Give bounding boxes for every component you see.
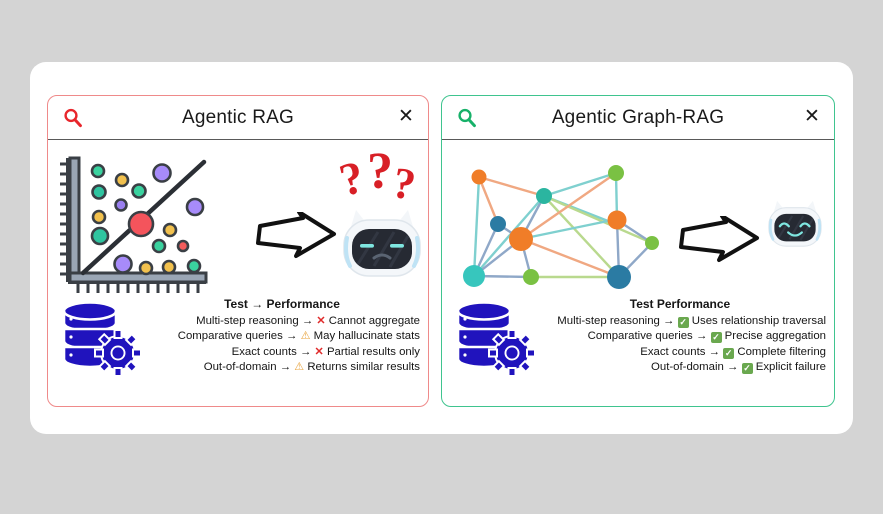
result-arrow: → [300,346,311,358]
panel-agentic-rag: Agentic RAG ✕ [47,95,429,407]
result-value: Complete filtering [737,346,826,358]
warning-icon: ⚠ [294,361,304,373]
result-row: Comparative queries → ✓ Precise aggregat… [534,329,826,345]
panel-body-right: Test Performance Multi-step reasoning → … [442,140,834,406]
svg-text:?: ? [367,146,393,200]
result-value: Precise aggregation [725,330,826,342]
result-value: Partial results only [327,346,420,358]
happy-robot-icon [762,194,828,264]
right-arrow-icon [256,212,338,264]
check-icon: ✓ [711,332,722,343]
panel-title: Agentic RAG [48,107,428,129]
result-label: Comparative queries [588,330,693,342]
panel-agentic-graph-rag: Agentic Graph-RAG ✕ [441,95,835,407]
result-label: Exact counts [232,346,297,358]
result-label: Comparative queries [178,330,283,342]
result-arrow: → [280,361,291,373]
result-value: Uses relationship traversal [692,315,826,327]
results-list-right: Test Performance Multi-step reasoning → … [534,297,826,376]
warning-icon: ⚠ [301,330,311,342]
database-gear-icon [452,295,540,381]
result-label: Out-of-domain [204,361,277,373]
database-gear-icon [58,295,146,381]
close-icon[interactable]: ✕ [396,107,416,127]
result-arrow: → [286,330,297,342]
result-value: May hallucinate stats [314,330,420,342]
result-arrow: → [696,330,707,342]
result-value: Returns similar results [307,361,420,373]
result-arrow: → [302,315,313,327]
result-label: Out-of-domain [651,361,724,373]
network-graph-figure [456,164,666,294]
comparison-card: Agentic RAG ✕ [30,62,853,434]
results-heading: Test → Performance [144,297,420,313]
check-icon: ✓ [723,348,734,359]
close-icon[interactable]: ✕ [802,107,822,127]
result-row: Out-of-domain → ⚠ Returns similar result… [144,360,420,376]
panel-header-right: Agentic Graph-RAG ✕ [442,96,834,140]
result-value: Cannot aggregate [329,315,420,327]
confused-robot-icon: ? ? ? [334,146,430,286]
result-label: Multi-step reasoning [557,315,660,327]
panel-header-left: Agentic RAG ✕ [48,96,428,140]
right-arrow-icon [679,216,761,268]
result-arrow: → [663,315,674,327]
svg-text:?: ? [389,158,419,210]
result-arrow: → [727,361,738,373]
result-row: Comparative queries → ⚠ May hallucinate … [144,329,420,345]
result-value: Explicit failure [756,361,826,373]
panel-title: Agentic Graph-RAG [442,107,834,129]
result-label: Multi-step reasoning [196,315,299,327]
result-row: Exact counts → ✓ Complete filtering [534,345,826,361]
results-heading: Test Performance [534,297,826,313]
search-icon[interactable] [62,107,84,129]
result-row: Out-of-domain → ✓ Explicit failure [534,360,826,376]
result-row: Multi-step reasoning → ✓ Uses relationsh… [534,314,826,330]
results-list-left: Test → Performance Multi-step reasoning … [144,297,420,376]
search-icon[interactable] [456,107,478,129]
svg-text:?: ? [334,151,369,206]
check-icon: ✓ [742,363,753,374]
scatter-plot-figure [54,144,254,309]
result-row: Exact counts → ✕ Partial results only [144,345,420,361]
screenshot-root: Agentic RAG ✕ [0,0,883,514]
result-label: Exact counts [640,346,705,358]
panel-body-left: ? ? ? [48,140,428,406]
check-icon: ✓ [678,317,689,328]
cross-icon: ✕ [316,315,325,327]
cross-icon: ✕ [315,346,324,358]
result-arrow: → [709,346,720,358]
result-row: Multi-step reasoning → ✕ Cannot aggregat… [144,314,420,330]
